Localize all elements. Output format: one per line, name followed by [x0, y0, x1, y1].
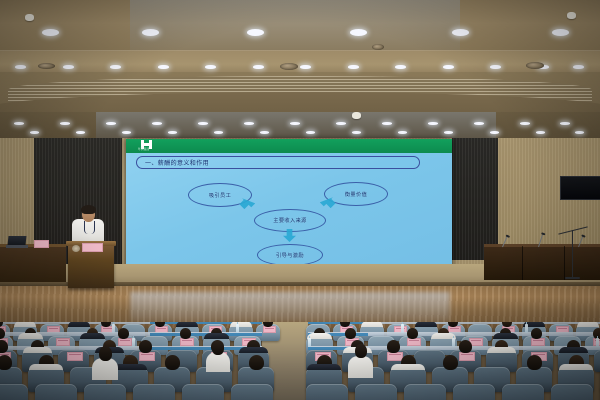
attendee-shoulders [68, 322, 90, 327]
attendee-head [443, 355, 458, 370]
ceiling-upper-panel [0, 0, 600, 52]
attendee-head [531, 328, 542, 339]
smoke-detector-icon [567, 12, 576, 19]
attendee-head [459, 340, 472, 353]
attendee-shoulders [29, 364, 63, 370]
water-bottle [401, 324, 404, 333]
audience-seat [0, 384, 28, 400]
open-laptop [6, 236, 28, 248]
audience-seat [84, 384, 126, 400]
water-bottle [308, 338, 311, 347]
attendee-shoulders [204, 333, 229, 339]
ceiling-downlight [247, 29, 264, 36]
front-attendee-white-3 [348, 356, 373, 378]
front-attendee-white [92, 358, 118, 380]
ceiling-air-vent [372, 44, 384, 50]
attendee-shoulders [176, 322, 198, 327]
table-name-card-left [34, 240, 49, 248]
front-attendee-head-3 [355, 344, 367, 358]
seat-name-card [263, 326, 276, 333]
ceiling-downlight [122, 131, 131, 134]
ceiling-downlight [352, 131, 361, 134]
attendee-shoulders [361, 322, 383, 327]
attendee-head [345, 328, 356, 339]
seat-name-card [139, 352, 155, 361]
audience-seat [551, 384, 593, 400]
ceiling-downlight [42, 29, 59, 36]
ceiling-downlight [253, 65, 264, 69]
ceiling-downlight [573, 65, 584, 69]
ceiling-downlight [15, 65, 26, 69]
ceiling-downlight [198, 122, 208, 125]
floor-reflection [130, 292, 450, 322]
attendee-shoulders [18, 333, 43, 339]
seat-name-card [118, 338, 132, 346]
ceiling-downlight [14, 122, 24, 125]
audience-seat [404, 384, 446, 400]
audience-seat [502, 384, 544, 400]
audience-seat [182, 384, 224, 400]
ceiling-downlight [536, 131, 545, 134]
ceiling-downlight [395, 65, 406, 69]
diagram-node-motivate: 引导与激励 [257, 244, 323, 266]
audience-seat [594, 350, 600, 372]
ceiling-downlight [158, 65, 169, 69]
wall-monitor-right [560, 176, 600, 200]
ceiling-air-vent [38, 63, 55, 69]
seat-name-card [407, 338, 421, 346]
attendee-head [139, 340, 152, 353]
attendee-head [387, 340, 400, 353]
ceiling-downlight [520, 122, 530, 125]
attendee-head [180, 328, 191, 339]
attendee-shoulders [230, 322, 252, 327]
attendee-shoulders [14, 322, 36, 327]
ceiling-downlight [552, 29, 569, 36]
ceiling-downlight [398, 131, 407, 134]
audience-seat [453, 384, 495, 400]
smoke-detector-icon [352, 112, 361, 119]
attendee-shoulders [80, 333, 105, 339]
slide-body: 一、薪酬的意义和作用 吸引员工 衡量价值 主要收入来源 引导与激励 [126, 153, 452, 269]
attendee-shoulders [307, 364, 341, 370]
attendee-head [527, 355, 542, 370]
attendee-shoulders [415, 322, 437, 327]
ceiling-downlight [560, 122, 570, 125]
attendee-shoulders [559, 364, 593, 370]
audience-seating [0, 322, 600, 400]
ceiling-downlight [490, 131, 499, 134]
ceiling-air-vent [526, 62, 544, 69]
attendee-head [249, 355, 264, 370]
seat-name-card [56, 338, 70, 346]
ceiling-downlight [490, 65, 501, 69]
attendee-head [407, 328, 418, 339]
ceiling-downlight [428, 122, 438, 125]
attendee-head [0, 355, 12, 370]
seat-name-card [67, 352, 83, 361]
ceiling-downlight [452, 29, 469, 36]
ceiling-downlight [306, 131, 315, 134]
ceiling-downlight [110, 65, 121, 69]
ceiling-downlight [214, 131, 223, 134]
water-bottle [596, 338, 599, 347]
laptop-keyboard [6, 245, 28, 248]
ceiling-mid-band [0, 50, 600, 74]
ceiling-downlight [30, 131, 39, 134]
side-table-left [0, 246, 66, 282]
audience-seat [355, 384, 397, 400]
attendee-shoulders [559, 347, 588, 353]
ceiling-downlight [336, 122, 346, 125]
ceiling-downlight [244, 122, 254, 125]
attendee-shoulders [487, 347, 516, 353]
seat-name-card [180, 338, 194, 346]
microphone-floor-stand [572, 230, 573, 278]
lecture-hall-photo: 华润集团 一、薪酬的意义和作用 吸引员工 衡量价值 主要收入来源 引导与激励 [0, 0, 600, 400]
seat-name-card [459, 352, 475, 361]
ceiling-downlight [168, 131, 177, 134]
front-attendee-head-2 [212, 341, 224, 355]
water-bottle [112, 324, 115, 333]
podium-emblem-icon [72, 245, 80, 252]
audience-seat [133, 384, 175, 400]
attendee-shoulders [493, 333, 518, 339]
audience-seat [231, 384, 273, 400]
water-bottle [132, 338, 135, 347]
audience-seat [35, 384, 77, 400]
ceiling-downlight [205, 65, 216, 69]
water-bottle [236, 324, 239, 333]
side-table-right [484, 246, 600, 280]
wooden-podium [68, 244, 114, 288]
ceiling-downlight [300, 65, 311, 69]
ceiling-downlight [348, 65, 359, 69]
slide-title-text: 一、薪酬的意义和作用 [145, 158, 209, 167]
ceiling-downlight [106, 122, 116, 125]
front-attendee-head [99, 346, 112, 361]
ceiling-downlight [575, 131, 584, 134]
ceiling-downlight [290, 122, 300, 125]
presenter-lanyard [84, 221, 95, 234]
slide-header-bar: 华润集团 [126, 139, 452, 153]
ceiling-downlight [444, 131, 453, 134]
ceiling-downlight [350, 29, 367, 36]
ceiling-downlight [260, 131, 269, 134]
slide-title-box: 一、薪酬的意义和作用 [136, 156, 420, 169]
front-attendee-white-2 [206, 352, 230, 372]
ceiling-downlight [63, 65, 74, 69]
attendee-shoulders [23, 347, 52, 353]
ceiling-downlight [382, 122, 392, 125]
ceiling-downlight [60, 122, 70, 125]
presenter-hair [81, 205, 96, 214]
ceiling-downlight [474, 122, 484, 125]
laptop-screen [8, 236, 27, 245]
attendee-shoulders [391, 364, 425, 370]
diagram-node-center: 主要收入来源 [254, 209, 326, 232]
ceiling-downlight [443, 65, 454, 69]
ceiling-downlight [142, 29, 159, 36]
attendee-head [118, 328, 129, 339]
attendee-shoulders [113, 364, 147, 370]
smoke-detector-icon [25, 14, 34, 21]
ceiling-air-vent [280, 63, 298, 70]
seat-name-card [531, 338, 545, 346]
audience-seat [306, 384, 348, 400]
water-bottle [525, 324, 528, 333]
podium-name-card [82, 243, 103, 252]
attendee-shoulders [577, 322, 599, 327]
company-logo-subtext: 华润集团 [138, 148, 150, 152]
ceiling-front-strip [0, 112, 600, 140]
ceiling-downlight [76, 131, 85, 134]
ceiling-downlight [152, 122, 162, 125]
attendee-shoulders [239, 347, 268, 353]
projection-screen: 华润集团 一、薪酬的意义和作用 吸引员工 衡量价值 主要收入来源 引导与激励 [126, 139, 452, 281]
attendee-head [165, 355, 180, 370]
water-bottle [452, 338, 455, 347]
